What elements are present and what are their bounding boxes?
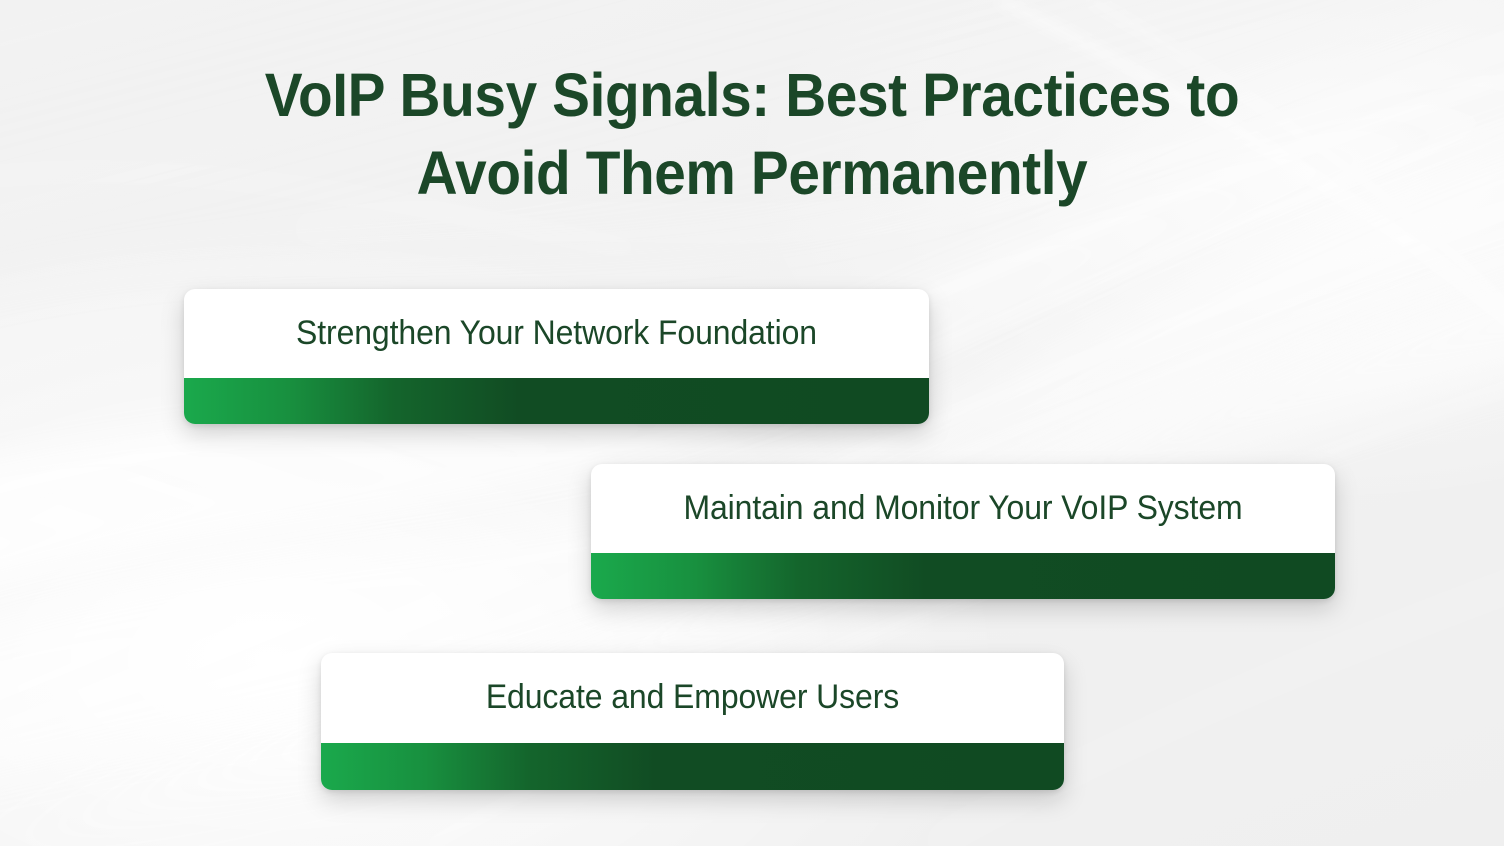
- practice-card-2-label: Maintain and Monitor Your VoIP System: [613, 464, 1312, 553]
- page-title: VoIP Busy Signals: Best Practices to Avo…: [53, 56, 1452, 212]
- practice-card-3-accent-bar: [321, 743, 1064, 790]
- practice-card-1[interactable]: Strengthen Your Network Foundation: [184, 289, 929, 424]
- infographic-slide: VoIP Busy Signals: Best Practices to Avo…: [0, 0, 1504, 846]
- practice-card-2-accent-bar: [591, 553, 1335, 599]
- practice-card-2[interactable]: Maintain and Monitor Your VoIP System: [591, 464, 1335, 599]
- practice-card-3-label: Educate and Empower Users: [343, 653, 1041, 743]
- practice-card-1-label: Strengthen Your Network Foundation: [206, 289, 906, 378]
- practice-card-1-accent-bar: [184, 378, 929, 424]
- practice-card-3[interactable]: Educate and Empower Users: [321, 653, 1064, 790]
